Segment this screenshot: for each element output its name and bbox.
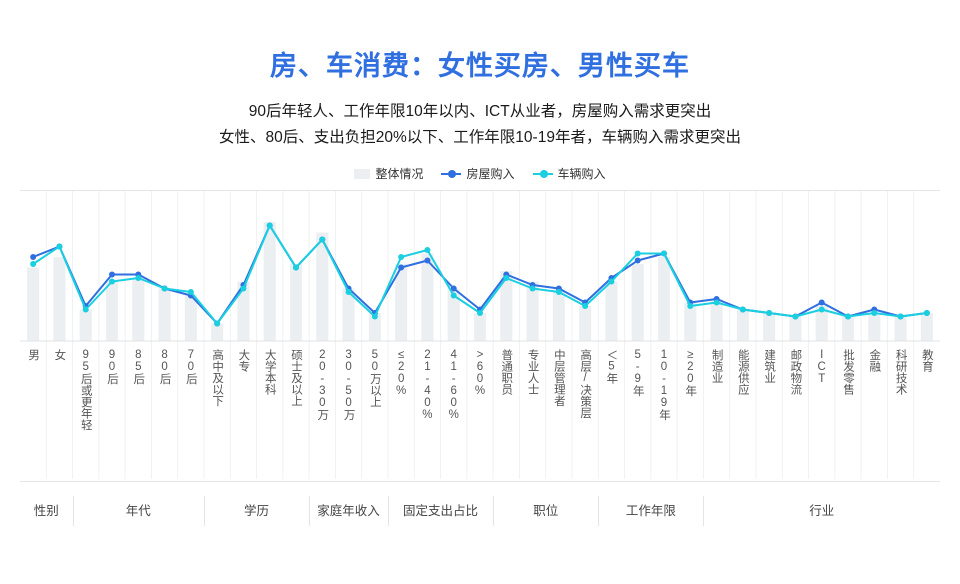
legend-label-overall: 整体情况 bbox=[375, 165, 423, 182]
group-label: 职位 bbox=[533, 500, 558, 519]
group-label: 固定支出占比 bbox=[403, 500, 478, 519]
group-separator bbox=[703, 496, 704, 526]
legend-label-house: 房屋购入 bbox=[466, 165, 514, 182]
group-label: 工作年限 bbox=[626, 500, 676, 519]
group-separator bbox=[493, 496, 494, 526]
group-separator bbox=[388, 496, 389, 526]
group-separator bbox=[73, 496, 74, 526]
group-separator bbox=[204, 496, 205, 526]
subtitle-block: 90后年轻人、工作年限10年以内、ICT从业者，房屋购入需求更突出 女性、80后… bbox=[0, 99, 960, 151]
group-separator bbox=[598, 496, 599, 526]
legend-item-overall[interactable]: 整体情况 bbox=[354, 165, 423, 182]
page-title: 房、车消费：女性买房、男性买车 bbox=[0, 44, 960, 83]
chart-area: 男女95后或更年轻90后85后80后70后高中及以下大专大学本科硕士及以上20-… bbox=[20, 190, 940, 482]
legend-item-house[interactable]: 房屋购入 bbox=[441, 165, 514, 182]
group-label: 行业 bbox=[809, 500, 834, 519]
group-label: 学历 bbox=[244, 500, 269, 519]
group-label: 性别 bbox=[34, 500, 59, 519]
legend-line-swatch-car-icon bbox=[533, 173, 553, 175]
legend-label-car: 车辆购入 bbox=[558, 165, 606, 182]
chart-legend: 整体情况 房屋购入 车辆购入 bbox=[0, 165, 960, 182]
legend-line-swatch-house-icon bbox=[441, 173, 461, 175]
group-label: 家庭年收入 bbox=[317, 500, 380, 519]
legend-item-car[interactable]: 车辆购入 bbox=[533, 165, 606, 182]
legend-bar-swatch-icon bbox=[354, 169, 370, 179]
subtitle-line-2: 女性、80后、支出负担20%以下、工作年限10-19年者，车辆购入需求更突出 bbox=[0, 125, 960, 151]
chart-svg bbox=[20, 191, 940, 479]
group-label: 年代 bbox=[126, 500, 151, 519]
group-separator bbox=[309, 496, 310, 526]
subtitle-line-1: 90后年轻人、工作年限10年以内、ICT从业者，房屋购入需求更突出 bbox=[0, 99, 960, 125]
group-axis: 性别年代学历家庭年收入固定支出占比职位工作年限行业 bbox=[20, 496, 940, 526]
